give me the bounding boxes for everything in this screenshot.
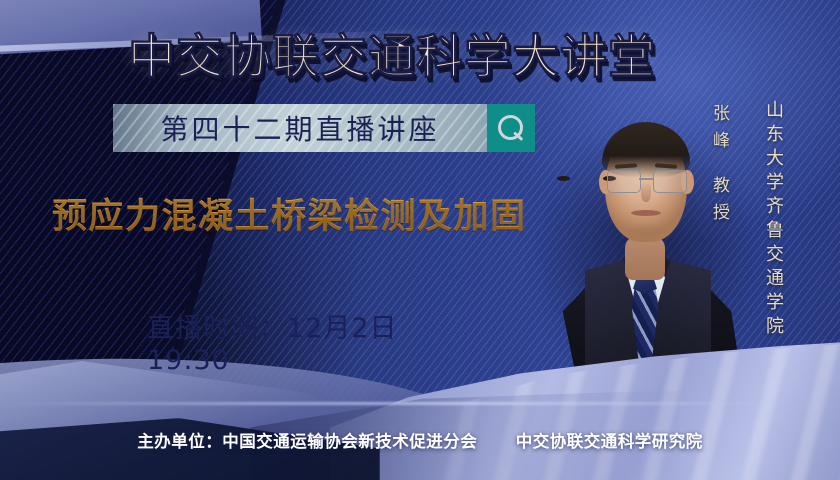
organizer-footer: 主办单位：中国交通运输协会新技术促进分会 中交协联交通科学研究院 <box>0 428 840 452</box>
session-bar: 第四十二期直播讲座 <box>113 104 535 152</box>
speaker-name: 张峰 <box>707 104 732 158</box>
session-label: 第四十二期直播讲座 <box>160 108 439 148</box>
page-title: 中交协联交通科学大讲堂 <box>128 18 708 87</box>
portrait-mouth <box>631 210 661 216</box>
glasses-lens-right <box>653 170 687 193</box>
portrait-nose <box>641 180 651 202</box>
silk-top-highlight-rim <box>0 402 840 405</box>
schedule-label: 直播时间：12月2日19:30 <box>147 315 471 367</box>
search-button[interactable] <box>487 104 535 152</box>
organizer-secondary: 中交协联交通科学研究院 <box>516 428 703 452</box>
speaker-portrait <box>545 118 745 386</box>
portrait-neck <box>625 236 665 280</box>
schedule-badge: 直播时间：12月2日19:30 <box>147 315 471 367</box>
glasses-lens-left <box>607 170 641 193</box>
speaker-rank: 教授 <box>707 176 732 230</box>
live-lecture-poster: 中交协联交通科学大讲堂 第四十二期直播讲座 预应力混凝土桥梁检测及加固 直播时间… <box>0 0 840 480</box>
lecture-title: 预应力混凝土桥梁检测及加固 <box>52 188 572 239</box>
portrait-chin-shade <box>623 222 669 238</box>
organizer-primary: 主办单位：中国交通运输协会新技术促进分会 <box>137 428 477 452</box>
portrait-eye-left <box>557 176 570 181</box>
search-icon <box>498 115 524 141</box>
speaker-affiliation: 山东大学齐鲁交通学院 <box>760 100 786 340</box>
session-bar-body: 第四十二期直播讲座 <box>113 104 487 152</box>
